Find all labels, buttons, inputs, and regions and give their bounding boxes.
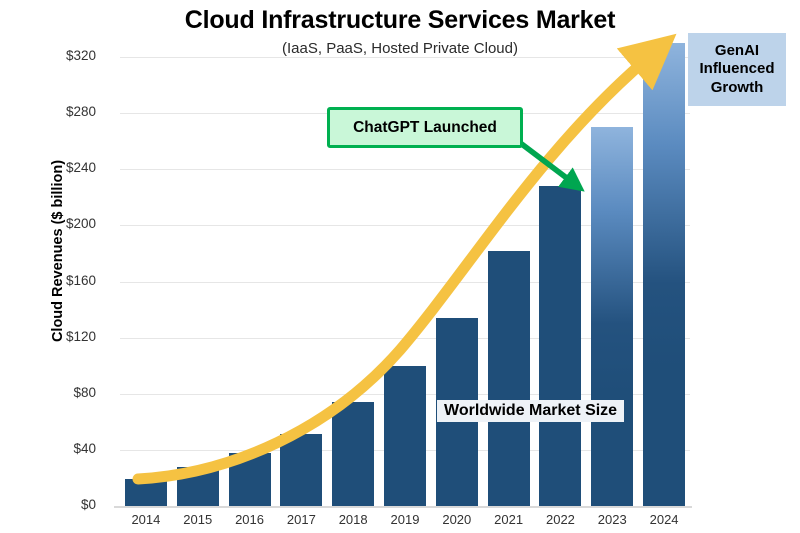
- x-axis-tick: 2024: [634, 512, 694, 527]
- y-axis-tick: $120: [26, 329, 96, 344]
- genai-label-line3: Growth: [711, 79, 764, 97]
- bar-2021: [488, 251, 530, 506]
- bar-2014: [125, 479, 167, 506]
- bar-2018: [332, 402, 374, 506]
- chatgpt-callout-label: ChatGPT Launched: [353, 119, 497, 137]
- bar-2016: [229, 453, 271, 506]
- bar-2015: [177, 467, 219, 506]
- y-axis-tick: $80: [26, 385, 96, 400]
- chart-canvas: Cloud Infrastructure Services Market (Ia…: [0, 0, 800, 533]
- axis-baseline: [114, 506, 692, 508]
- y-axis-tick: $320: [26, 48, 96, 63]
- genai-label-line1: GenAI: [715, 42, 759, 60]
- y-axis-tick: $200: [26, 216, 96, 231]
- genai-label-line2: Influenced: [699, 60, 774, 78]
- bar-2019: [384, 366, 426, 506]
- bar-2024: [643, 43, 685, 506]
- worldwide-market-size-label: Worldwide Market Size: [437, 400, 624, 422]
- bar-2023: [591, 127, 633, 506]
- bar-2017: [280, 434, 322, 506]
- y-axis-tick: $160: [26, 273, 96, 288]
- gridline: [120, 57, 690, 58]
- y-axis-tick: $280: [26, 104, 96, 119]
- genai-callout[interactable]: GenAI Influenced Growth: [688, 33, 786, 106]
- chatgpt-callout[interactable]: ChatGPT Launched: [327, 107, 523, 148]
- bar-2022: [539, 186, 581, 506]
- y-axis-tick: $0: [26, 497, 96, 512]
- chart-title: Cloud Infrastructure Services Market: [120, 6, 680, 35]
- y-axis-tick: $240: [26, 160, 96, 175]
- y-axis-tick: $40: [26, 441, 96, 456]
